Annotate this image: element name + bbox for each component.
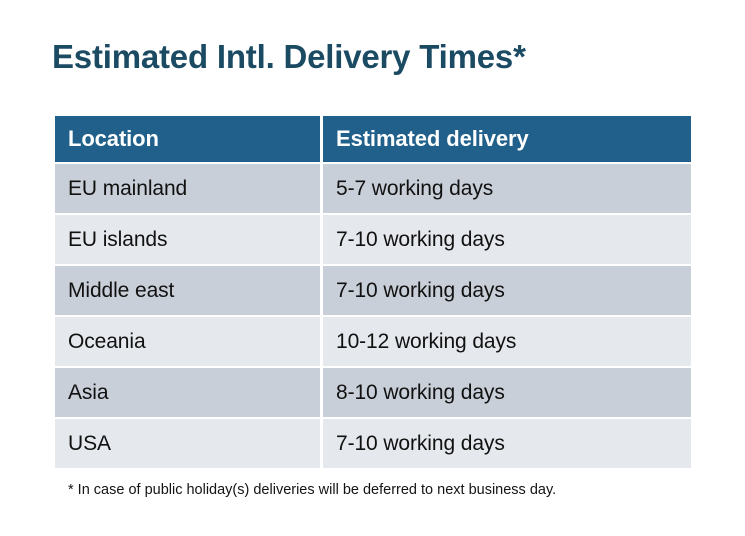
cell-estimated-delivery: 7-10 working days: [323, 419, 691, 468]
cell-estimated-delivery: 5-7 working days: [323, 164, 691, 213]
cell-estimated-delivery: 7-10 working days: [323, 266, 691, 315]
table-row: Middle east 7-10 working days: [55, 266, 691, 315]
table-row: Asia 8-10 working days: [55, 368, 691, 417]
column-header-location: Location: [55, 116, 320, 162]
delivery-times-page: Estimated Intl. Delivery Times* Location…: [0, 0, 745, 536]
table-body: EU mainland 5-7 working days EU islands …: [55, 164, 691, 468]
table-header: Location Estimated delivery: [55, 116, 691, 162]
cell-location: Oceania: [55, 317, 320, 366]
table-row: USA 7-10 working days: [55, 419, 691, 468]
cell-estimated-delivery: 10-12 working days: [323, 317, 691, 366]
page-title: Estimated Intl. Delivery Times*: [52, 36, 526, 78]
cell-estimated-delivery: 8-10 working days: [323, 368, 691, 417]
footnote-text: * In case of public holiday(s) deliverie…: [68, 480, 556, 500]
estimated-delivery-times-table: Location Estimated delivery EU mainland …: [52, 114, 694, 470]
cell-location: USA: [55, 419, 320, 468]
cell-location: EU islands: [55, 215, 320, 264]
table-row: Oceania 10-12 working days: [55, 317, 691, 366]
table-header-row: Location Estimated delivery: [55, 116, 691, 162]
table-row: EU mainland 5-7 working days: [55, 164, 691, 213]
column-header-estimated-delivery: Estimated delivery: [323, 116, 691, 162]
cell-location: Middle east: [55, 266, 320, 315]
cell-estimated-delivery: 7-10 working days: [323, 215, 691, 264]
table-row: EU islands 7-10 working days: [55, 215, 691, 264]
cell-location: EU mainland: [55, 164, 320, 213]
cell-location: Asia: [55, 368, 320, 417]
